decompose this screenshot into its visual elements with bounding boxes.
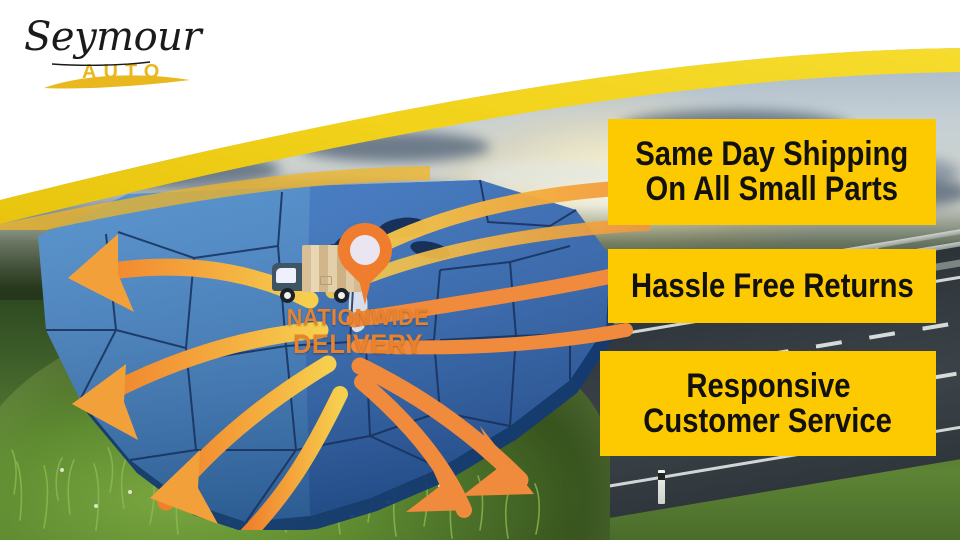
banner-1-line-1: Same Day Shipping: [636, 137, 909, 172]
brand-logo[interactable]: Seymour AUTO: [22, 14, 202, 96]
banner-3-line-2: Customer Service: [644, 404, 893, 439]
banner-1-line-2: On All Small Parts: [646, 172, 898, 207]
promo-banner-stage: Seymour AUTO NATIONWIDE DELIVERY Same Da…: [0, 0, 960, 540]
banner-same-day-shipping[interactable]: Same Day Shipping On All Small Parts: [608, 119, 936, 225]
map-pin-icon: [338, 223, 392, 307]
banner-responsive-customer-service[interactable]: Responsive Customer Service: [600, 351, 936, 456]
nationwide-delivery-headline: NATIONWIDE DELIVERY: [258, 306, 458, 358]
roadside-marker-post: [658, 470, 665, 504]
banner-hassle-free-returns[interactable]: Hassle Free Returns: [608, 249, 936, 323]
banner-3-line-1: Responsive: [686, 369, 850, 404]
headline-line-1: NATIONWIDE: [264, 306, 452, 329]
logo-swoosh-icon: [22, 14, 202, 96]
headline-line-2: DELIVERY: [264, 331, 452, 358]
banner-2-line-1: Hassle Free Returns: [631, 269, 914, 304]
